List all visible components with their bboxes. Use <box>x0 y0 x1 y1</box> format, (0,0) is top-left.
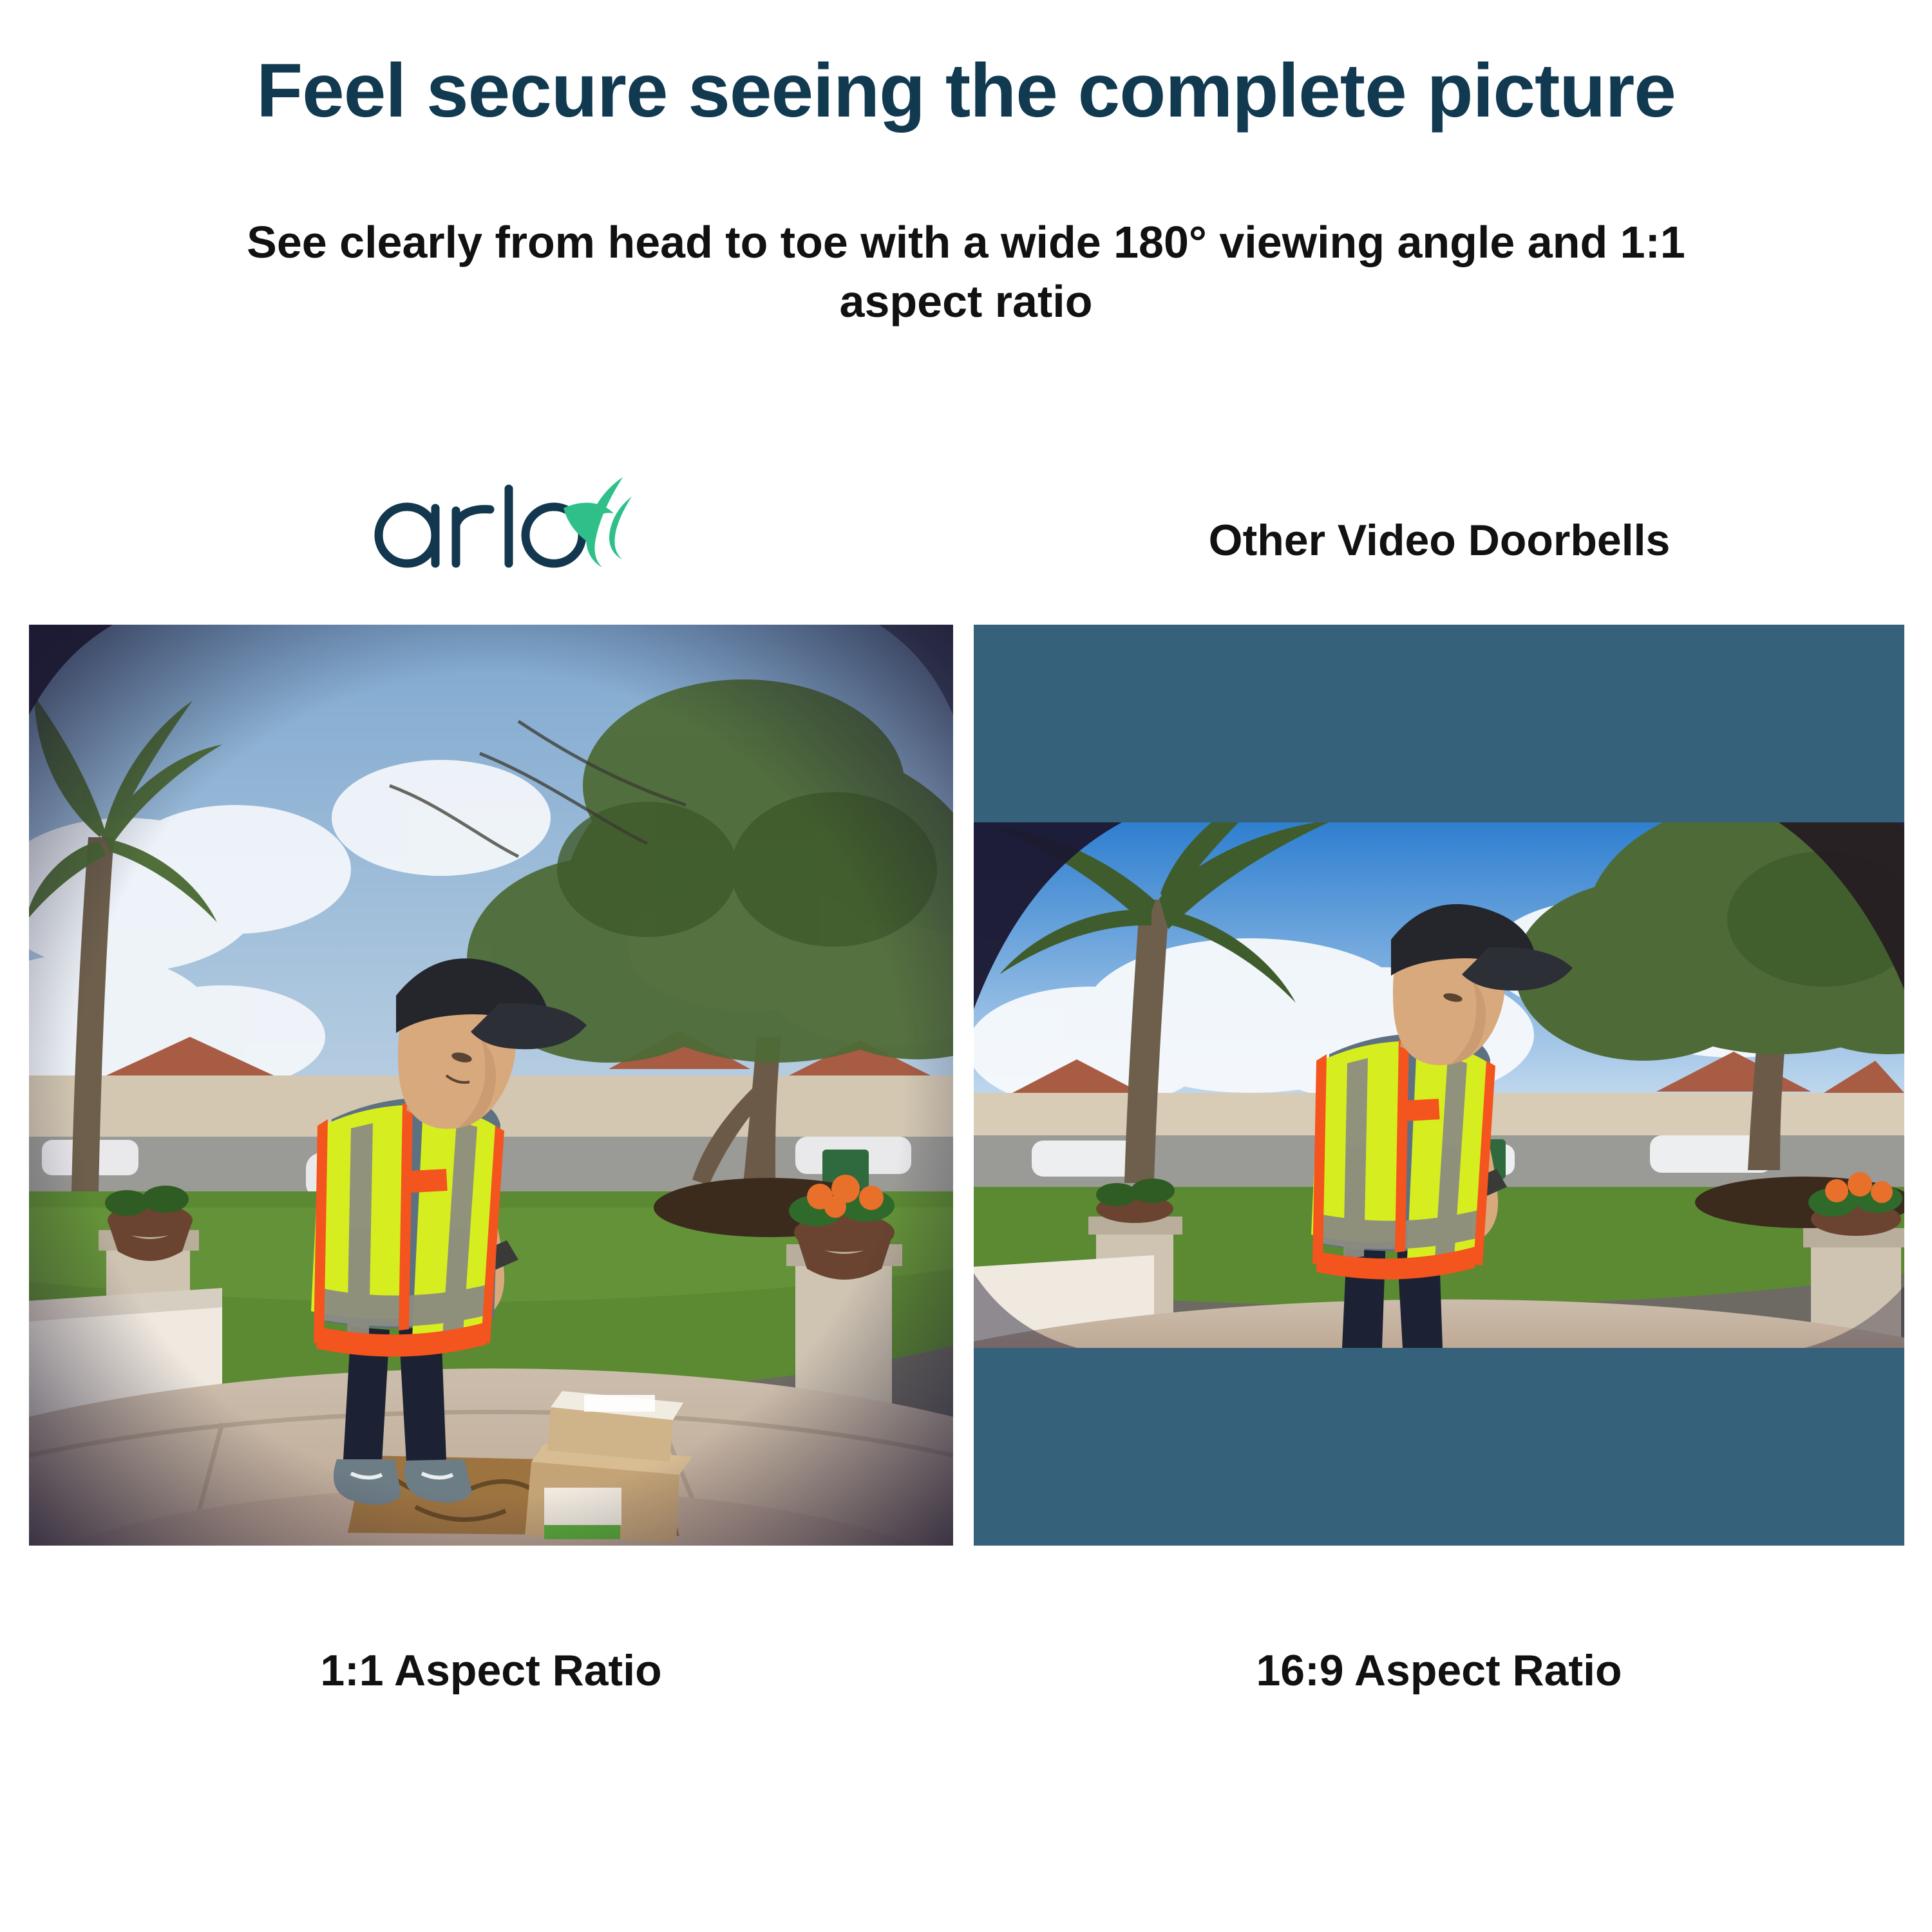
right-caption: 16:9 Aspect Ratio <box>974 1645 1904 1696</box>
arlo-camera-view <box>29 625 953 1546</box>
left-caption: 1:1 Aspect Ratio <box>29 1645 953 1696</box>
page-subtitle: See clearly from head to toe with a wide… <box>193 213 1739 332</box>
arlo-scene-image <box>29 625 953 1546</box>
other-camera-view <box>974 625 1904 1546</box>
letterboxed-video-region <box>974 822 1904 1348</box>
page-title: Feel secure seeing the complete picture <box>0 52 1932 131</box>
other-doorbells-label: Other Video Doorbells <box>972 515 1906 565</box>
other-scene-image <box>974 822 1904 1348</box>
arlo-logo <box>370 473 634 576</box>
